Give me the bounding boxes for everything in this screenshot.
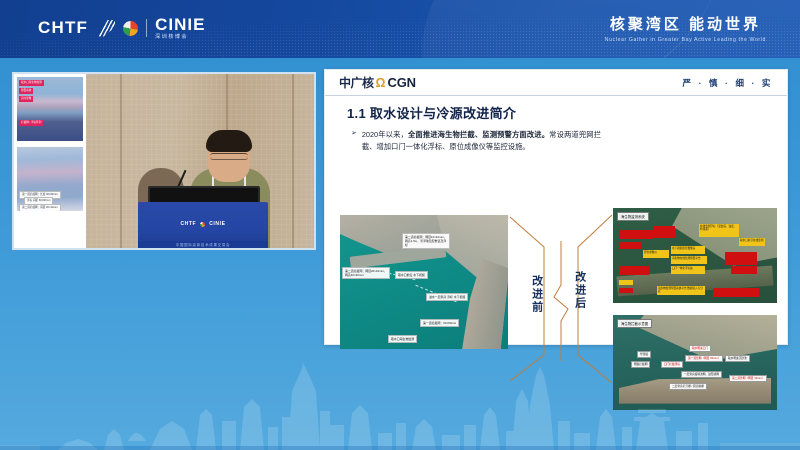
monitor-redbox-0 xyxy=(619,230,653,239)
interception-caption: 海生物拦截示意图 xyxy=(617,319,652,328)
slogan-chinese: 核聚湾区 能动世界 xyxy=(605,13,766,34)
thumb2-label-bottom: 第二道拦截网：间距 20×10mm xyxy=(19,204,61,211)
monitor-redbox-2 xyxy=(619,266,649,275)
before-label-4: 第一道拦截网：60×60mm xyxy=(420,319,459,327)
monitoring-system-photo[interactable]: 海生物监测系统 在线监测浮标（温盐深、浊度、叶绿素） 原位成像仪 水下视频监控摄… xyxy=(613,208,777,303)
logo-divider xyxy=(146,19,147,37)
cinie-logo-subtext: 深圳核博会 xyxy=(155,35,205,40)
city-skyline-graphic xyxy=(0,355,800,450)
footer-line xyxy=(0,446,800,450)
monitor-callout-0: 在线监测浮标（温盐深、浊度、叶绿素） xyxy=(699,224,739,237)
bullet-part-0: 2020年以来， xyxy=(362,130,408,139)
speaker-glasses xyxy=(210,153,248,160)
podium-chtf-text: CHTF xyxy=(180,221,196,227)
before-label-5: 取水口海生物监测 xyxy=(388,335,417,343)
cgn-swirl-icon: Ω xyxy=(376,75,386,90)
cinie-globe-icon xyxy=(123,21,138,36)
monitor-redbox-3 xyxy=(653,226,675,238)
wall-seam-right xyxy=(292,74,294,248)
legend-swatch-warning xyxy=(619,288,633,293)
monitor-callout-4: 口门一体化浮标站 xyxy=(671,266,705,274)
cgn-logo: 中广核 Ω CGN xyxy=(339,74,416,91)
bullet-arrow-icon: ➢ xyxy=(351,129,357,153)
presentation-video-feed[interactable]: 取水口海生物监测 预警系统 实时影像 拦截网 / 浮标阵列 第一道拦截网：长度 … xyxy=(12,72,316,250)
presentation-slide[interactable]: 中广核 Ω CGN 严 · 慎 · 细 · 实 1.1 取水设计与冷源改进简介 … xyxy=(324,69,788,345)
broadcast-stage: CHTF CINIE 深圳核博会 核聚湾区 能动世界 Nuclear Gathe… xyxy=(0,0,800,450)
monitor-redbox-4 xyxy=(725,252,757,265)
cinie-logo-text: CINIE xyxy=(155,16,205,33)
slide-thumbnail-2[interactable]: 第一道拦截网：长度 60×62mm 浮标 间距 60×60mm 第二道拦截网：间… xyxy=(17,147,83,211)
monitor-callout-1: 原位成像仪 xyxy=(643,250,669,258)
podium-logo-group: CHTF CINIE xyxy=(138,221,268,227)
label-after-improvement: 改进后 xyxy=(573,271,586,310)
thumb1-label-1: 预警系统 xyxy=(19,88,33,94)
aerial-intake-before-photo[interactable]: 第二道拦截网：网目20×10mm，网高40×40mm 第二道拦截网：网目10×1… xyxy=(340,215,508,349)
slide-header: 中广核 Ω CGN 严 · 慎 · 细 · 实 xyxy=(325,70,787,96)
monitor-callout-3: 海生物在线监测预警平台 xyxy=(671,256,707,264)
monitor-callout-2: 水下视频监控摄像头 xyxy=(671,246,705,254)
monitor-callout-5: 取水口前沿在线监测 xyxy=(739,238,765,246)
monitor-redbox-1 xyxy=(619,242,641,249)
label-before-improvement: 改进前 xyxy=(530,275,543,314)
chtf-logo-text: CHTF xyxy=(38,18,88,38)
thumb1-label-2: 实时影像 xyxy=(19,96,33,102)
cinie-logo-group: CINIE 深圳核博会 xyxy=(155,16,205,40)
before-label-2: 取水口前沿 水下视频 xyxy=(395,271,428,279)
podium: CHTF CINIE 中国国际高新技术成果交易会 xyxy=(138,202,268,248)
slide-thumbnail-strip[interactable]: 取水口海生物监测 预警系统 实时影像 拦截网 / 浮标阵列 第一道拦截网：长度 … xyxy=(14,74,86,248)
cgn-logo-chinese: 中广核 xyxy=(339,74,374,91)
before-label-1: 第二道拦截网：网目10×10mm，网高1.5m，带浮球及配重链及浮标 xyxy=(402,233,450,249)
podium-globe-icon xyxy=(200,222,205,227)
before-label-0: 第二道拦截网：网目20×10mm，网高40×40mm xyxy=(342,267,390,279)
slide-body: 第二道拦截网：网目20×10mm，网高40×40mm 第二道拦截网：网目10×1… xyxy=(325,153,787,381)
event-banner: CHTF CINIE 深圳核博会 核聚湾区 能动世界 Nuclear Gathe… xyxy=(0,0,800,58)
podium-cinie-text: CINIE xyxy=(209,221,225,227)
monitor-callout-6: 海生物监测预警系统平台 数据接入与分析 xyxy=(657,286,705,295)
legend-swatch-monitor xyxy=(619,280,633,285)
event-slogan: 核聚湾区 能动世界 Nuclear Gather in Greater Bay … xyxy=(605,13,766,43)
wall-seam-left xyxy=(120,74,122,248)
speaker-camera-view[interactable]: CHTF CINIE 中国国际高新技术成果交易会 xyxy=(86,74,314,248)
slide-title: 1.1 取水设计与冷源改进简介 xyxy=(325,96,787,124)
bullet-part-1: 全面推进海生物拦截、监测预警方面改进。 xyxy=(408,130,549,139)
slide-thumbnail-1[interactable]: 取水口海生物监测 预警系统 实时影像 拦截网 / 浮标阵列 xyxy=(17,77,83,141)
podium-event-strip: 中国国际高新技术成果交易会 xyxy=(138,241,268,248)
bullet-text: 2020年以来，全面推进海生物拦截、监测预警方面改进。常设两道兜网拦截、增加口门… xyxy=(362,129,601,153)
thumb1-label-0: 取水口海生物监测 xyxy=(19,80,44,86)
monitoring-caption: 海生物监测系统 xyxy=(617,212,649,221)
thumb1-label-bottom: 拦截网 / 浮标阵列 xyxy=(19,120,43,126)
before-label-3: 进水一层泵房 浮标 水下视频 xyxy=(426,293,468,301)
event-logo-group: CHTF CINIE 深圳核博会 xyxy=(38,16,205,40)
monitor-redbox-5 xyxy=(731,266,757,274)
slide-bullet: ➢ 2020年以来，全面推进海生物拦截、监测预警方面改进。常设两道兜网拦截、增加… xyxy=(351,129,601,153)
monitor-redbox-6 xyxy=(713,288,759,297)
slogan-english: Nuclear Gather in Greater Bay Active Lea… xyxy=(605,37,766,43)
speaker-hair xyxy=(206,130,252,152)
cgn-logo-english: CGN xyxy=(388,75,416,90)
chtf-ribbon-icon xyxy=(96,20,115,37)
cgn-motto: 严 · 慎 · 细 · 实 xyxy=(683,77,773,89)
net-callout-3: 取水明渠口门 xyxy=(689,345,711,352)
